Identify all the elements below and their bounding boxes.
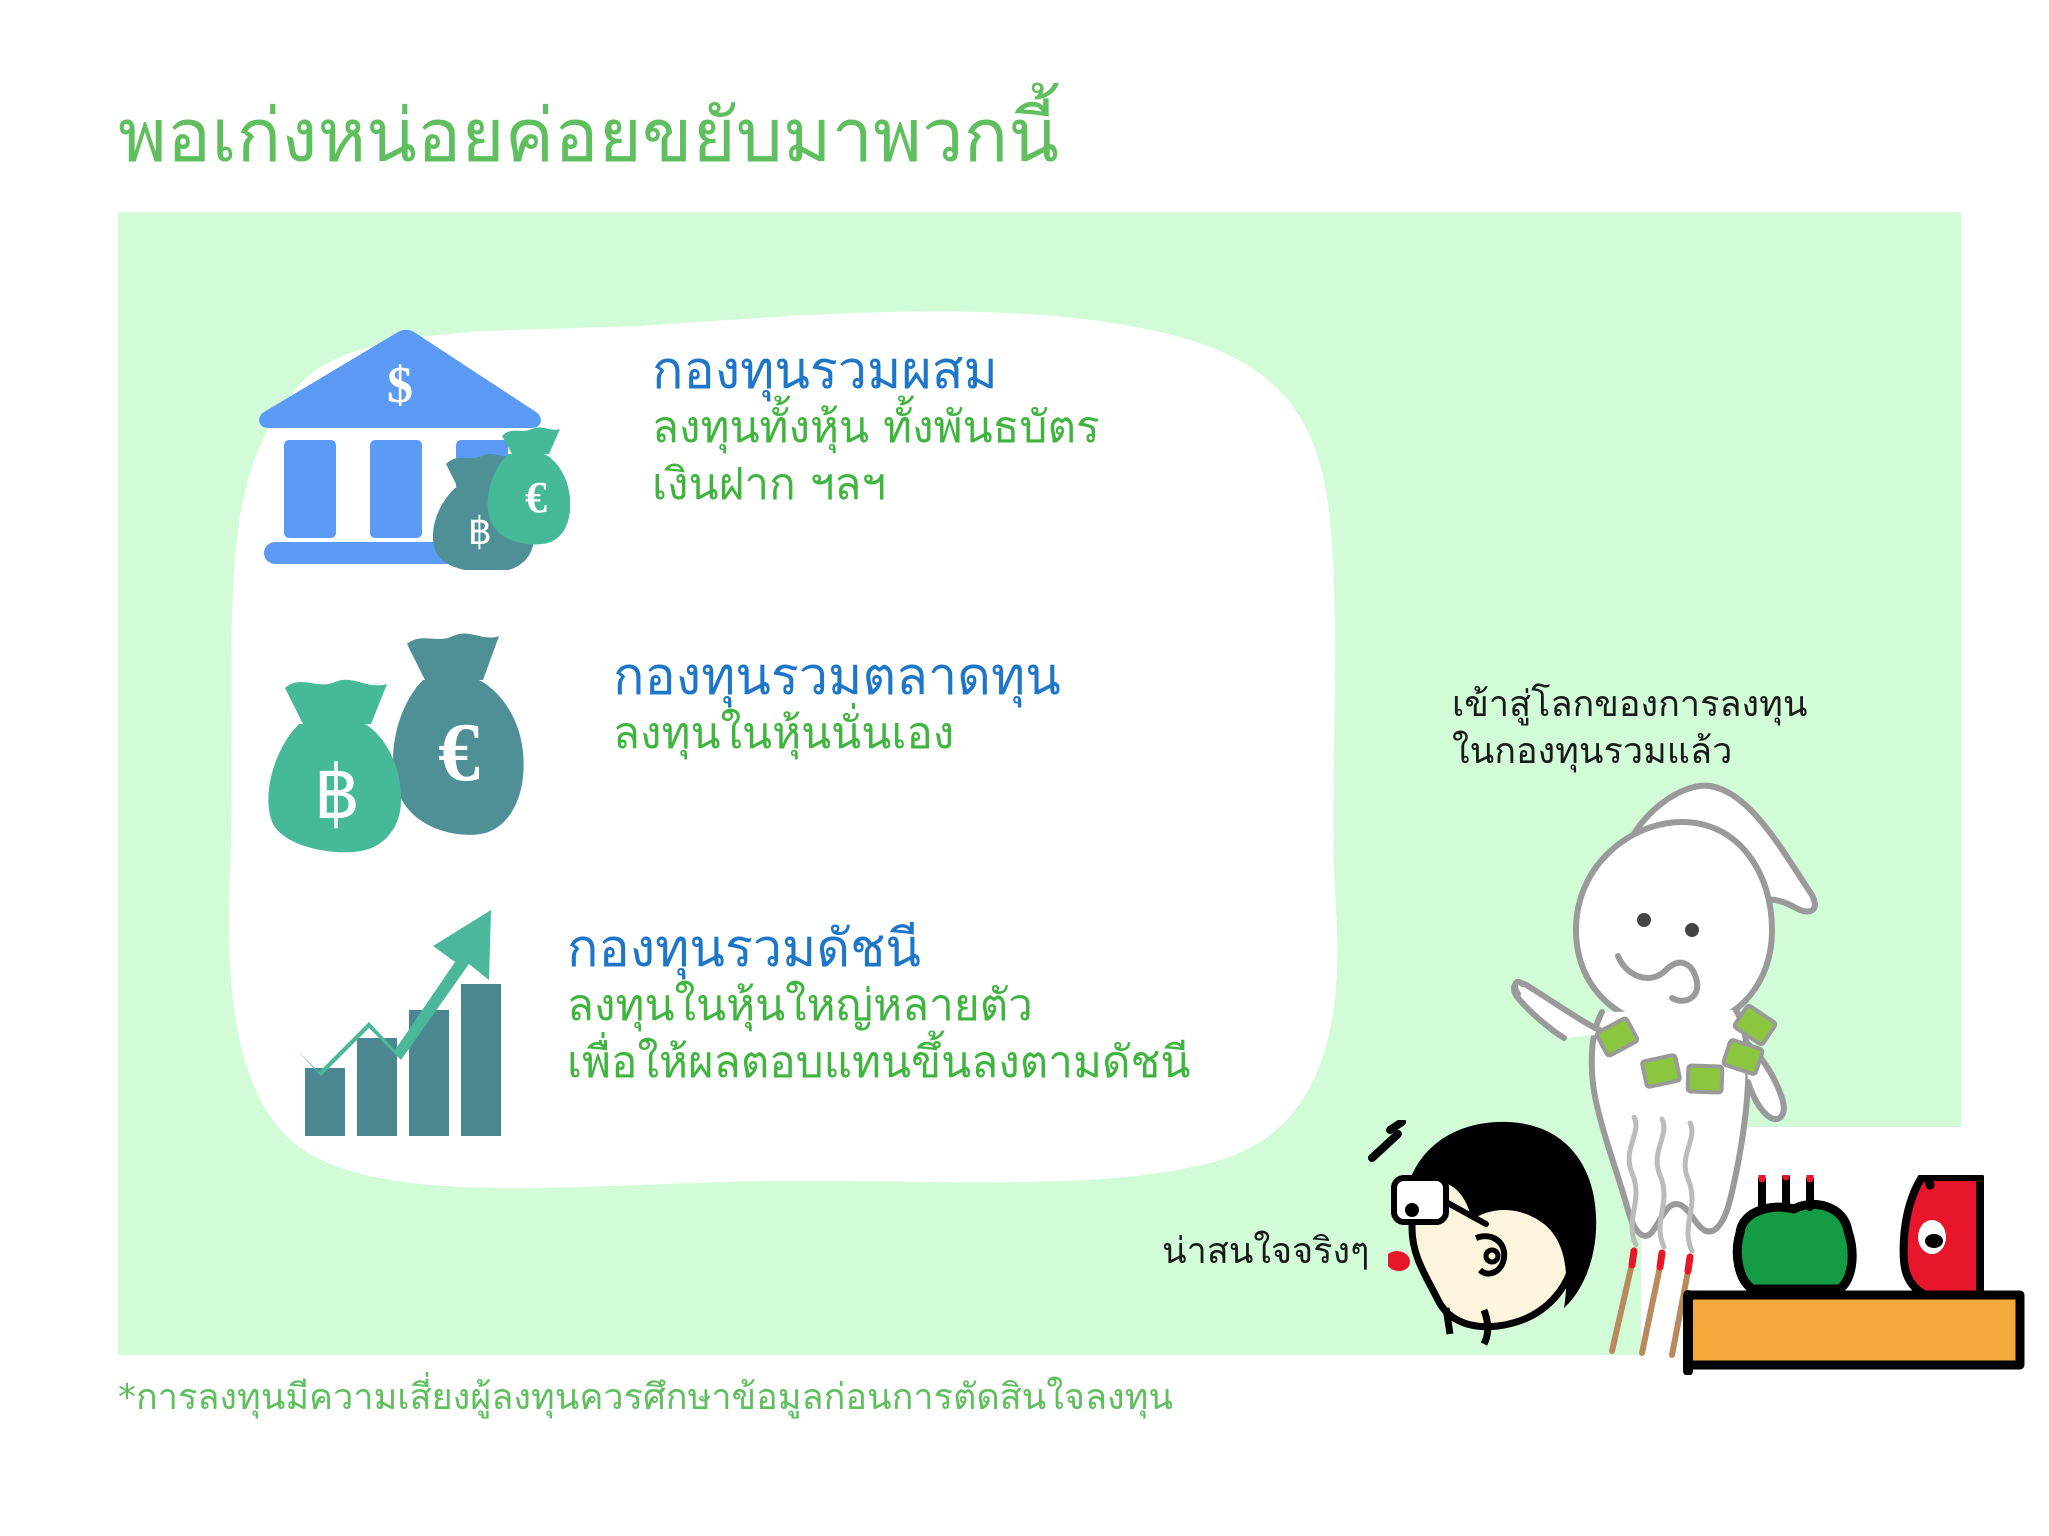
money-bags-icon: € ฿ — [255, 630, 535, 865]
fund-item-index: กองทุนรวมดัชนี ลงทุนในหุ้นใหญ่หลายตัว เพ… — [295, 900, 1190, 1145]
fund-item-capital-market: € ฿ กองทุนรวมตลาดทุน ลงทุนในหุ้นนั่นเอง — [255, 630, 1061, 865]
page-title: พอเก่งหน่อยค่อยขยับมาพวกนี้ — [118, 98, 1059, 176]
svg-text:€: € — [525, 473, 547, 522]
fund-text-mixed: กองทุนรวมผสม ลงทุนทั้งหุ้น ทั้งพันธบัตร … — [652, 342, 1100, 513]
fund-desc-mixed-line2: เงินฝาก ฯลฯ — [652, 457, 1100, 513]
svg-text:$: $ — [387, 357, 413, 414]
fund-title-mixed: กองทุนรวมผสม — [652, 342, 1100, 400]
svg-text:€: € — [438, 706, 480, 799]
fund-desc-capital-market-line1: ลงทุนในหุ้นนั่นเอง — [613, 706, 1061, 762]
ghost-speech-text: เข้าสู่โลกของการลงทุน ในกองทุนรวมแล้ว — [1452, 682, 1807, 776]
fund-item-mixed: $ ฿ € กองทุนรวมผสม ลงทุนทั้งหุ้น ทั้งพัน… — [250, 320, 1100, 575]
panel-corner-notch — [1641, 1127, 1961, 1355]
fund-desc-index-line2: เพื่อให้ผลตอบแทนขึ้นลงตามดัชนี — [567, 1035, 1190, 1091]
svg-text:฿: ฿ — [313, 753, 360, 835]
fund-text-capital-market: กองทุนรวมตลาดทุน ลงทุนในหุ้นนั่นเอง — [613, 648, 1061, 763]
fund-text-index: กองทุนรวมดัชนี ลงทุนในหุ้นใหญ่หลายตัว เพ… — [567, 920, 1190, 1091]
growth-bar-chart-arrow-icon — [295, 900, 525, 1145]
fund-title-index: กองทุนรวมดัชนี — [567, 920, 1190, 978]
fund-desc-mixed-line1: ลงทุนทั้งหุ้น ทั้งพันธบัตร — [652, 400, 1100, 456]
boy-speech-text: น่าสนใจจริงๆ — [1162, 1222, 1369, 1279]
disclaimer-footnote: *การลงทุนมีความเสี่ยงผู้ลงทุนควรศึกษาข้อ… — [118, 1368, 1173, 1425]
svg-text:฿: ฿ — [468, 511, 492, 553]
fund-desc-index-line1: ลงทุนในหุ้นใหญ่หลายตัว — [567, 978, 1190, 1034]
fund-title-capital-market: กองทุนรวมตลาดทุน — [613, 648, 1061, 706]
bank-with-money-bags-icon: $ ฿ € — [250, 320, 570, 575]
